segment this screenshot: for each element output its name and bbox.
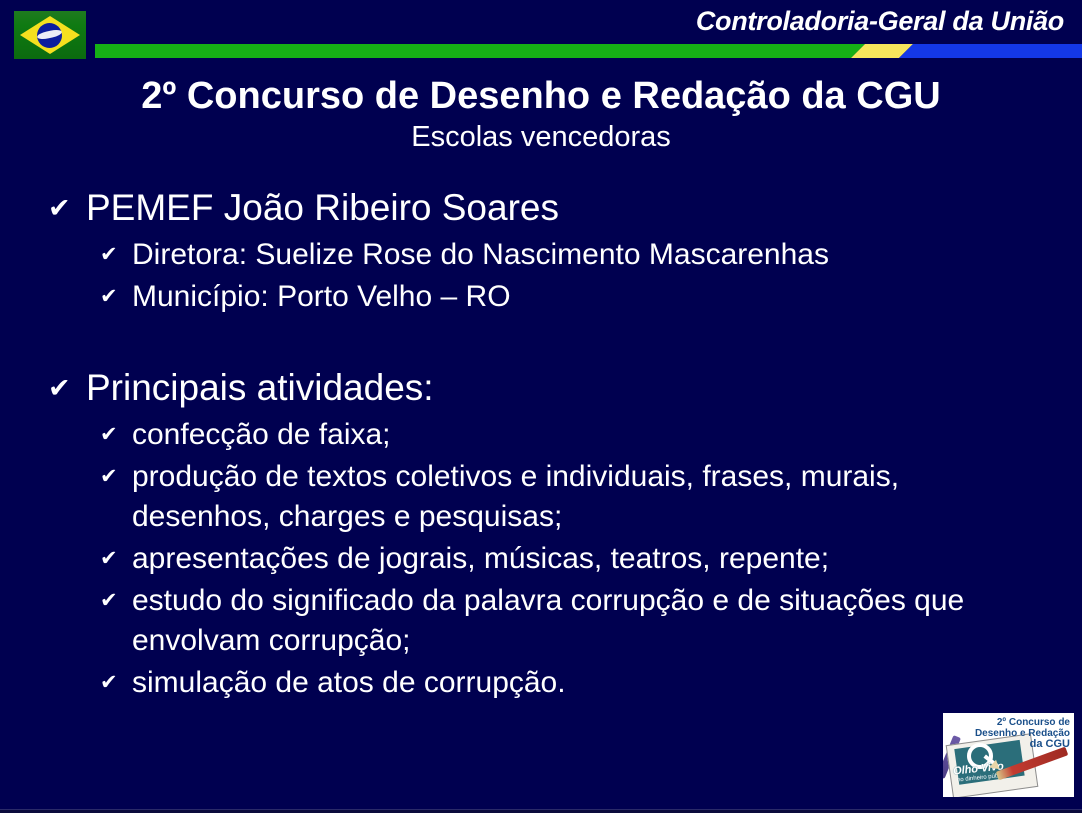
contest-logo: Olho Vivo no dinheiro público 2º Concurs…: [943, 713, 1074, 797]
bottom-edge: [0, 809, 1082, 813]
bullet-level2: ✔ Diretora: Suelize Rose do Nascimento M…: [0, 235, 1082, 275]
bullet-level2: ✔ produção de textos coletivos e individ…: [0, 457, 1082, 537]
bullet-level2-text: produção de textos coletivos e individua…: [132, 457, 1082, 537]
bullet-level1: ✔ Principais atividades:: [0, 365, 1082, 411]
bullet-level2: ✔ estudo do significado da palavra corru…: [0, 581, 1082, 661]
bullet-level2-text: estudo do significado da palavra corrupç…: [132, 581, 1082, 661]
bullet-level2: ✔ Município: Porto Velho – RO: [0, 277, 1082, 317]
slide-header: Controladoria-Geral da União: [0, 0, 1082, 63]
bullet-level2: ✔ confecção de faixa;: [0, 415, 1082, 455]
bullet-level2-text: confecção de faixa;: [132, 415, 1082, 455]
checkmark-icon: ✔: [100, 539, 132, 579]
rule-blue-segment: [899, 44, 1082, 58]
slide: Controladoria-Geral da União 2º Concurso…: [0, 0, 1082, 813]
tricolor-rule: [95, 44, 1082, 58]
contest-logo-line1: 2º Concurso de: [966, 717, 1070, 728]
contest-logo-text: 2º Concurso de Desenho e Redação da CGU: [966, 717, 1070, 750]
bullet-level1: ✔ PEMEF João Ribeiro Soares: [0, 185, 1082, 231]
checkmark-icon: ✔: [100, 277, 132, 317]
brazil-flag-icon: [14, 11, 86, 59]
bullet-level2-text: apresentações de jograis, músicas, teatr…: [132, 539, 1082, 579]
checkmark-icon: ✔: [48, 365, 86, 411]
checkmark-icon: ✔: [100, 663, 132, 703]
section-spacer: [0, 319, 1082, 365]
checkmark-icon: ✔: [100, 415, 132, 455]
contest-logo-graphic: Olho Vivo no dinheiro público 2º Concurs…: [943, 713, 1074, 797]
slide-content: ✔ PEMEF João Ribeiro Soares ✔ Diretora: …: [0, 185, 1082, 705]
checkmark-icon: ✔: [48, 185, 86, 231]
bullet-level2-text: simulação de atos de corrupção.: [132, 663, 1082, 703]
bullet-level2-text: Diretora: Suelize Rose do Nascimento Mas…: [132, 235, 1082, 275]
title-block: 2º Concurso de Desenho e Redação da CGU …: [0, 74, 1082, 154]
checkmark-icon: ✔: [100, 235, 132, 275]
slide-title: 2º Concurso de Desenho e Redação da CGU: [0, 74, 1082, 118]
bullet-level1-text: Principais atividades:: [86, 365, 1082, 411]
bullet-level1-text: PEMEF João Ribeiro Soares: [86, 185, 1082, 231]
contest-logo-line3: da CGU: [966, 739, 1070, 750]
rule-green-segment: [95, 44, 865, 58]
checkmark-icon: ✔: [100, 581, 132, 621]
checkmark-icon: ✔: [100, 457, 132, 497]
slide-subtitle: Escolas vencedoras: [0, 120, 1082, 154]
bullet-level2: ✔ simulação de atos de corrupção.: [0, 663, 1082, 703]
bullet-level2: ✔ apresentações de jograis, músicas, tea…: [0, 539, 1082, 579]
bullet-level2-text: Município: Porto Velho – RO: [132, 277, 1082, 317]
organization-title: Controladoria-Geral da União: [696, 6, 1064, 37]
